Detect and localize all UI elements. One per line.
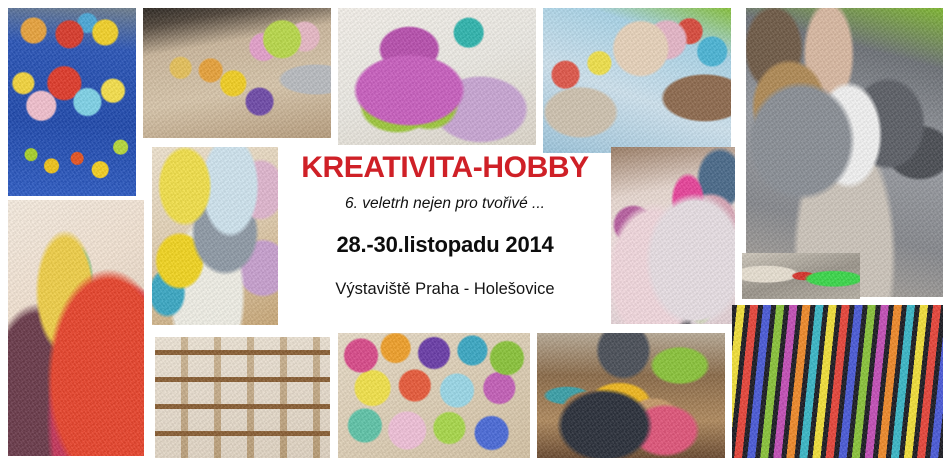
- photo-texture: [152, 147, 278, 325]
- photo-texture: [611, 147, 735, 324]
- photo-texture: [742, 253, 860, 299]
- photo-rubber-stamp-shelves: [155, 337, 330, 458]
- page-title: KREATIVITA-HOBBY: [290, 152, 600, 184]
- photo-woman-painting-poppies: [8, 200, 144, 456]
- photo-market-stand-strip: [742, 253, 860, 299]
- photo-texture: [155, 337, 330, 458]
- photo-scrapbook-cards-paris: [152, 147, 278, 325]
- photo-green-pink-handbag: [338, 8, 536, 145]
- poster-venue: Výstaviště Praha - Holešovice: [290, 280, 600, 299]
- poster-canvas: KREATIVITA-HOBBY 6. veletrh nejen pro tv…: [0, 0, 943, 466]
- photo-pink-stamping-table: [611, 147, 735, 324]
- photo-puppets-wooden-shelves: [143, 8, 331, 138]
- photo-clay-figures-blue-cloth: [8, 8, 136, 196]
- photo-texture: [543, 8, 731, 153]
- photo-kids-craft-workshop: [537, 333, 725, 458]
- poster-text-block: KREATIVITA-HOBBY 6. veletrh nejen pro tv…: [290, 152, 600, 299]
- poster-subtitle: 6. veletrh nejen pro tvořivé ...: [290, 195, 600, 213]
- photo-texture: [8, 8, 136, 196]
- photo-texture: [143, 8, 331, 138]
- photo-texture: [8, 200, 144, 456]
- photo-yarn-balls-display: [338, 333, 530, 458]
- photo-fimo-clay-display: [732, 305, 943, 458]
- photo-craft-table-papers-paints: [543, 8, 731, 153]
- poster-dates: 28.-30.listopadu 2014: [290, 232, 600, 258]
- photo-texture: [537, 333, 725, 458]
- photo-texture: [338, 333, 530, 458]
- photo-texture: [338, 8, 536, 145]
- photo-texture: [732, 305, 943, 458]
